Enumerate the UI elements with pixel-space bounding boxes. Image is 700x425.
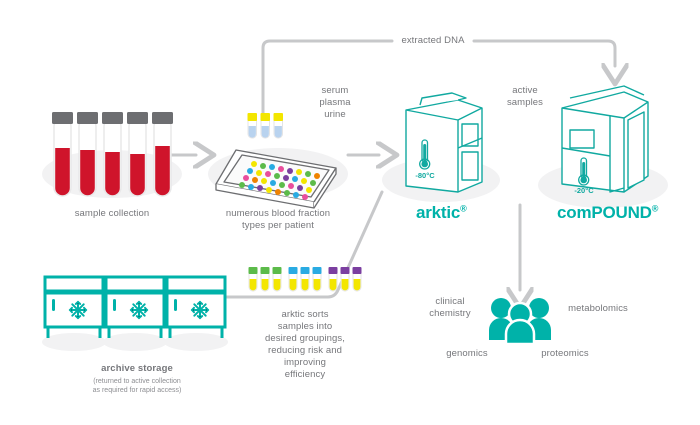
- sorting-description-label: arktic sorts samples into desired groupi…: [245, 309, 365, 381]
- microplate-icon: [214, 146, 342, 208]
- omics-term-proteomics: proteomics: [527, 348, 603, 360]
- extracted-dna-label: extracted DNA: [383, 35, 483, 47]
- snowflake-icon: [131, 302, 147, 318]
- sorted-tubes-icon: [248, 266, 354, 296]
- compound-registered-mark: ®: [652, 203, 658, 213]
- blood-fractions-label: numerous blood fraction types per patien…: [198, 208, 358, 232]
- compound-brand-label: comPOUND®: [557, 203, 658, 223]
- serum-plasma-urine-label: serum plasma urine: [300, 85, 370, 121]
- snowflake-icon: [192, 302, 208, 318]
- arktic-name: arktic: [416, 203, 460, 222]
- arktic-registered-mark: ®: [460, 203, 466, 213]
- archive-storage-units: [44, 276, 230, 344]
- arrow-extracted-dna-end: [474, 41, 615, 66]
- omics-term-genomics: genomics: [432, 348, 502, 360]
- sample-collection-tubes: [50, 108, 170, 198]
- archive-unit: [167, 277, 225, 338]
- sample-collection-label: sample collection: [37, 208, 187, 220]
- archive-storage-label: archive storage: [62, 363, 212, 375]
- archive-unit: [45, 277, 103, 338]
- snowflake-icon: [70, 302, 86, 318]
- fraction-tubes-icon: [247, 112, 287, 140]
- workflow-diagram: sample collection: [0, 0, 700, 425]
- omics-term-metabolomics: metabolomics: [552, 303, 644, 315]
- compound-freezer-icon: -20°C: [548, 84, 658, 204]
- active-samples-label: active samples: [490, 85, 560, 109]
- omics-term-clinical-chemistry: clinical chemistry: [414, 296, 486, 320]
- people-group-icon: [487, 292, 553, 346]
- archive-storage-sublabel: (returned to active collection as requir…: [57, 377, 217, 395]
- compound-temperature: -20°C: [574, 186, 594, 195]
- arktic-brand-label: arktic®: [416, 203, 467, 223]
- arktic-temperature: -80°C: [415, 171, 435, 180]
- archive-unit: [106, 277, 164, 338]
- compound-name: comPOUND: [557, 203, 652, 222]
- arktic-freezer-icon: -80°C: [400, 88, 490, 198]
